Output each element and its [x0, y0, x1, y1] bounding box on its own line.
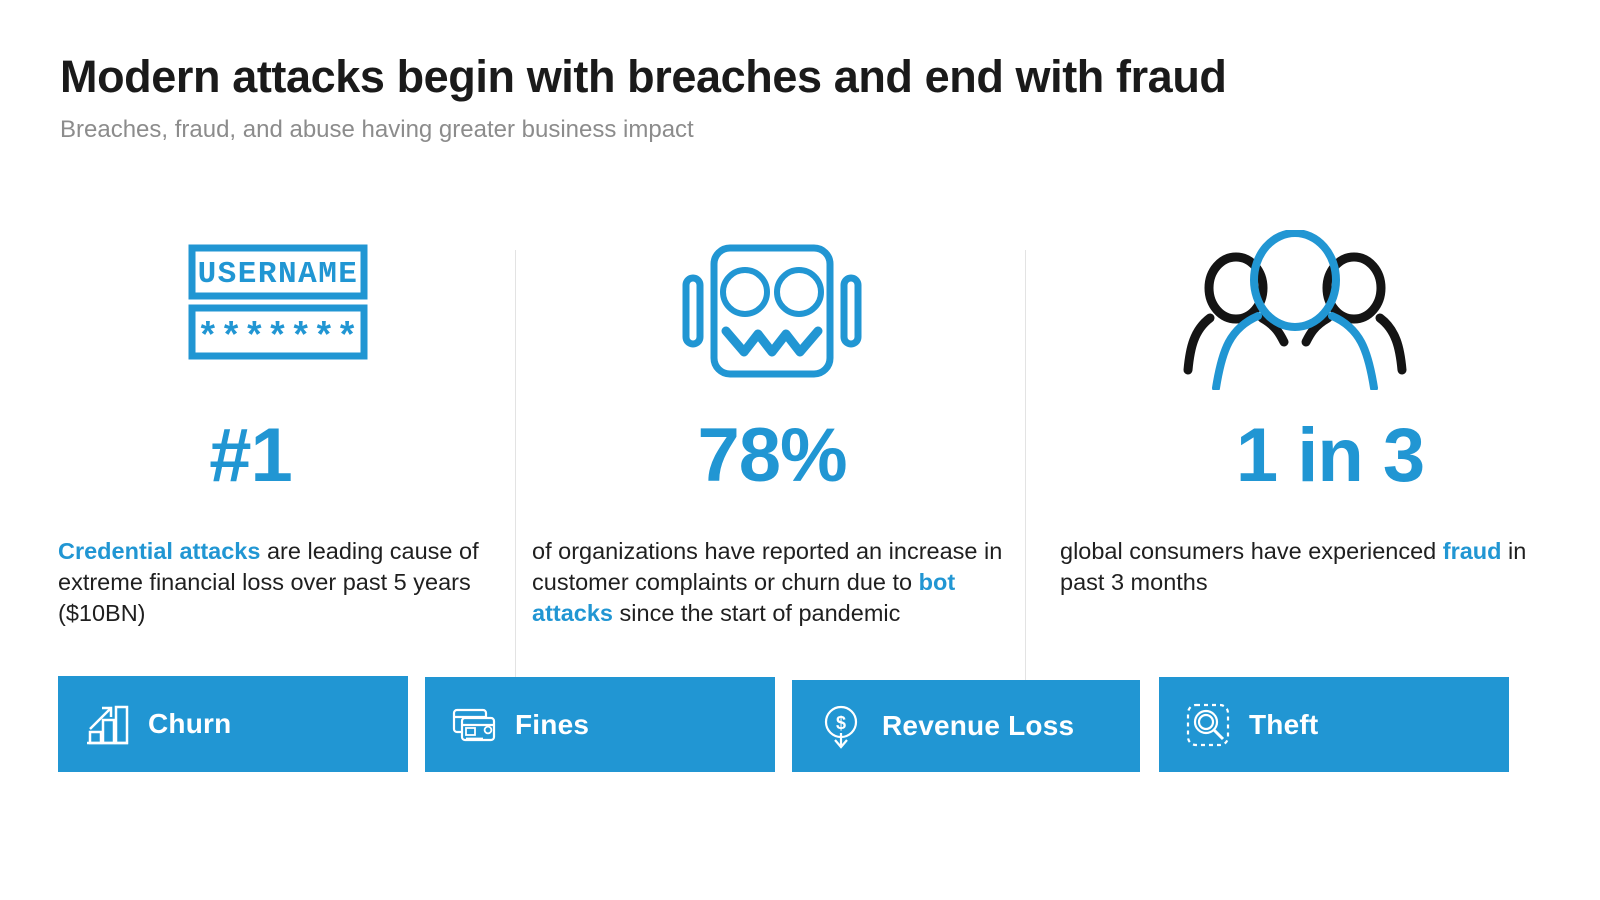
svg-text:$: $: [836, 713, 846, 733]
credential-username-label: USERNAME: [198, 257, 359, 292]
highlight-credential-attacks: Credential attacks: [58, 538, 260, 564]
column-divider-1: [515, 250, 516, 692]
dollar-down-arrow-icon: $: [814, 699, 868, 753]
stat-value-bot: 78%: [532, 418, 1012, 494]
stat-value-credential: #1: [3, 418, 498, 494]
impact-bar-revenue-loss[interactable]: $ Revenue Loss: [792, 680, 1140, 772]
consumers-group-icon-wrap: [1060, 230, 1530, 390]
impact-bar-label-theft: Theft: [1249, 709, 1318, 741]
stat-column-consumer-fraud: 1 in 3 global consumers have experienced…: [1060, 230, 1530, 680]
page-title: Modern attacks begin with breaches and e…: [60, 52, 1540, 102]
page-header: Modern attacks begin with breaches and e…: [60, 52, 1540, 144]
impact-bar-theft[interactable]: Theft: [1159, 677, 1509, 772]
bot-robot-icon: [672, 230, 872, 390]
stat-value-consumers: 1 in 3: [1130, 418, 1530, 494]
consumers-group-icon: [1180, 230, 1410, 390]
text-bot-rest: since the start of pandemic: [613, 600, 900, 626]
highlight-fraud: fraud: [1443, 538, 1502, 564]
impact-bar-fines[interactable]: Fines: [425, 677, 775, 772]
column-divider-2: [1025, 250, 1026, 692]
impact-bar-label-fines: Fines: [515, 709, 589, 741]
stat-description-credential: Credential attacks are leading cause of …: [58, 536, 498, 629]
text-consumers-lead: global consumers have experienced: [1060, 538, 1443, 564]
credential-password-mask: *******: [197, 318, 359, 360]
impact-bar-label-churn: Churn: [148, 708, 231, 740]
impact-bar-label-revenue-loss: Revenue Loss: [882, 710, 1074, 742]
stat-description-bot: of organizations have reported an increa…: [532, 536, 1012, 629]
stat-column-credential-attacks: USERNAME ******* #1 Credential attacks a…: [58, 230, 498, 680]
credit-cards-icon: [447, 698, 501, 752]
credential-login-icon-wrap: USERNAME *******: [58, 230, 498, 390]
stat-column-bot-attacks: 78% of organizations have reported an in…: [532, 230, 1012, 680]
magnifier-dashed-box-icon: [1181, 698, 1235, 752]
page-subtitle: Breaches, fraud, and abuse having greate…: [60, 116, 1540, 145]
impact-bar-churn[interactable]: Churn: [58, 676, 408, 772]
stat-description-consumers: global consumers have experienced fraud …: [1060, 536, 1530, 598]
credential-login-icon: USERNAME *******: [178, 240, 378, 380]
stats-columns: USERNAME ******* #1 Credential attacks a…: [0, 230, 1600, 680]
bot-robot-icon-wrap: [532, 230, 1012, 390]
bar-chart-growth-icon: [80, 697, 134, 751]
